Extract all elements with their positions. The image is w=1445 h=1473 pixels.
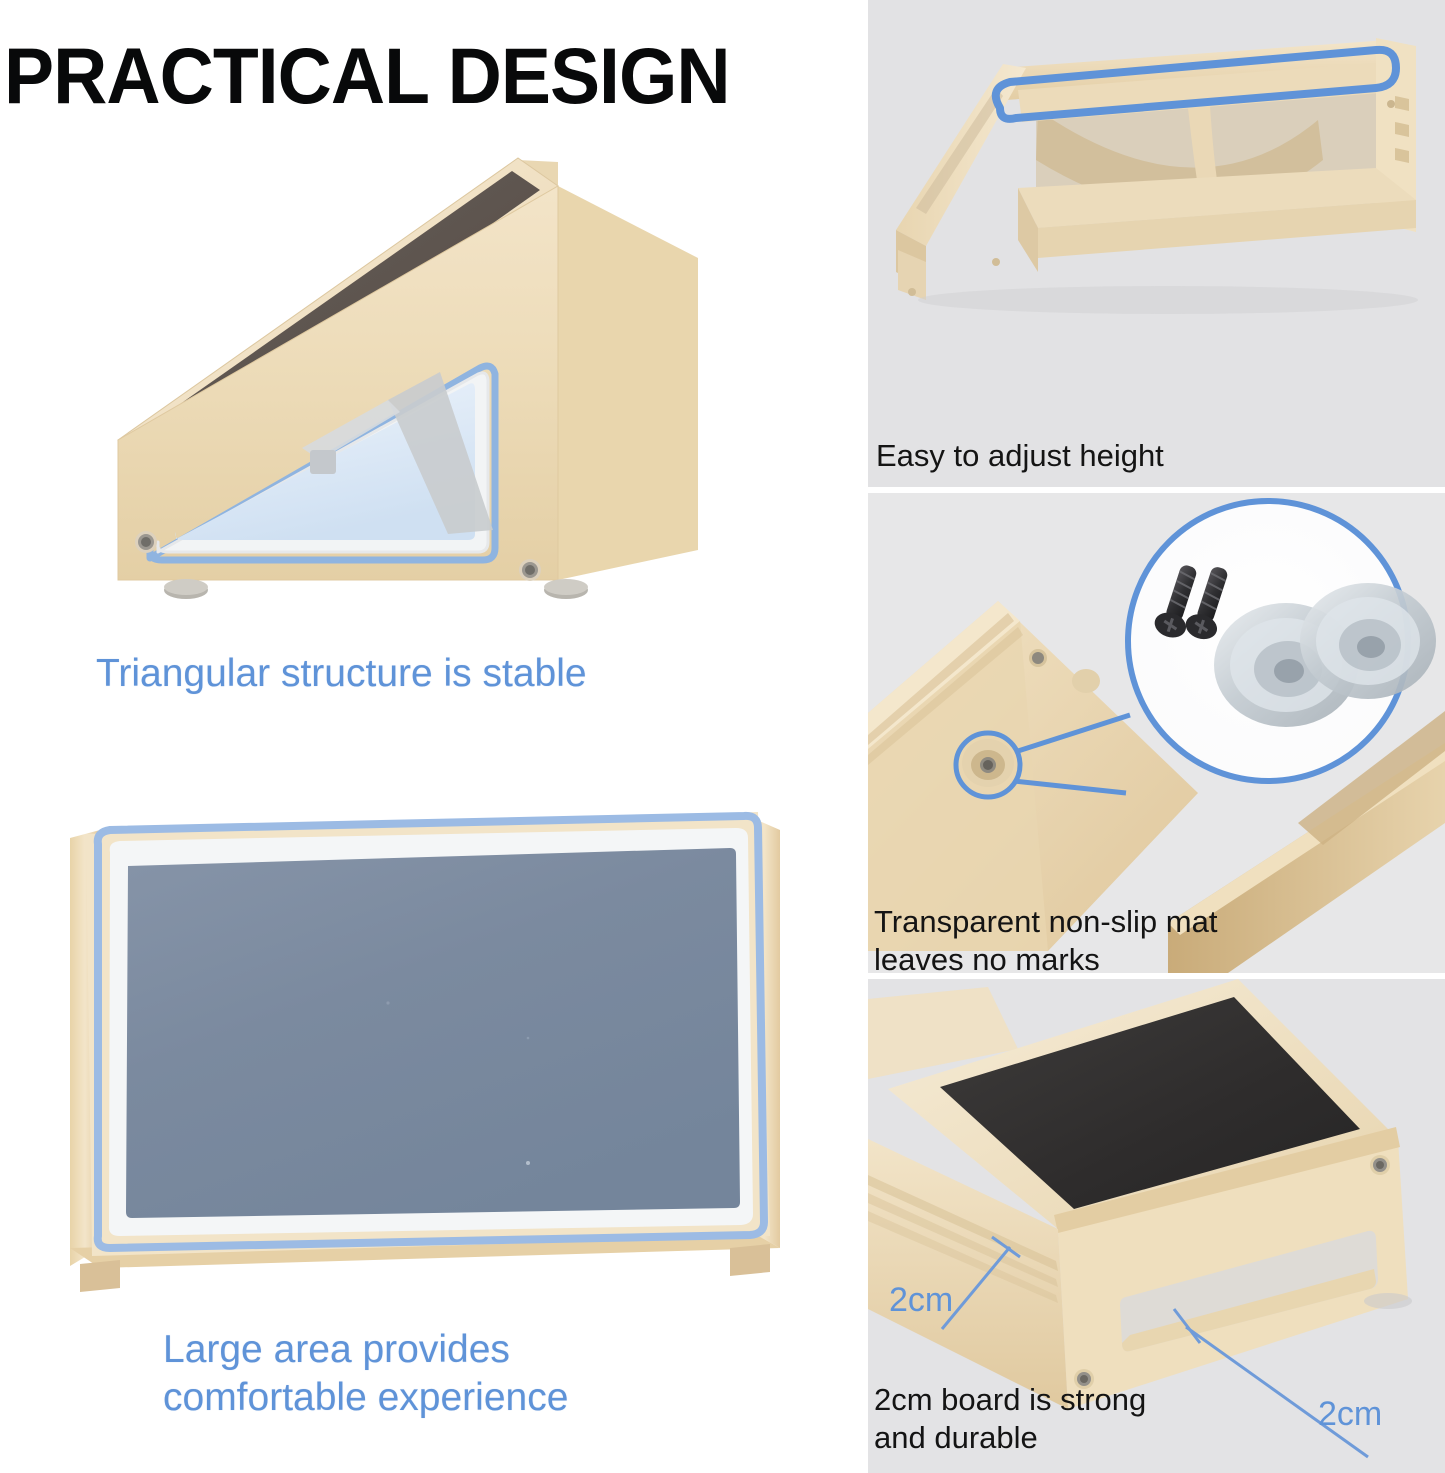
screw-left-front [135,531,157,553]
rubber-pad-back [1300,583,1436,699]
wedge-right-panel [558,186,698,580]
caption-triangular-structure: Triangular structure is stable [96,650,816,698]
screw-right-front [519,559,541,581]
board-foot-right [730,1244,770,1276]
page-title: PRACTICAL DESIGN [4,34,812,118]
product-image-large-surface [58,778,788,1308]
left-column: PRACTICAL DESIGN [0,0,866,1473]
panel-non-slip-mat [868,493,1445,973]
screw-front-top [1370,1155,1390,1175]
product-image-triangular-footrest [88,150,738,620]
caption-2cm-board: 2cm board is strong and durable [874,1381,1146,1457]
caption-large-area: Large area provides comfortable experien… [163,1326,803,1422]
caption-transparent-non-slip-mat: Transparent non-slip mat leaves no marks [874,903,1217,979]
board-foot-left [80,1260,120,1292]
caption-easy-adjust-height: Easy to adjust height [876,437,1164,475]
dimension-label-right: 2cm [1318,1395,1382,1433]
infographic-page: PRACTICAL DESIGN [0,0,1445,1473]
board-gray-mat [126,848,740,1218]
panel-adjust-height [868,0,1445,487]
inner-bracket [310,450,336,474]
dimension-label-left: 2cm [889,1281,953,1319]
right-column: Easy to adjust height [866,0,1445,1473]
